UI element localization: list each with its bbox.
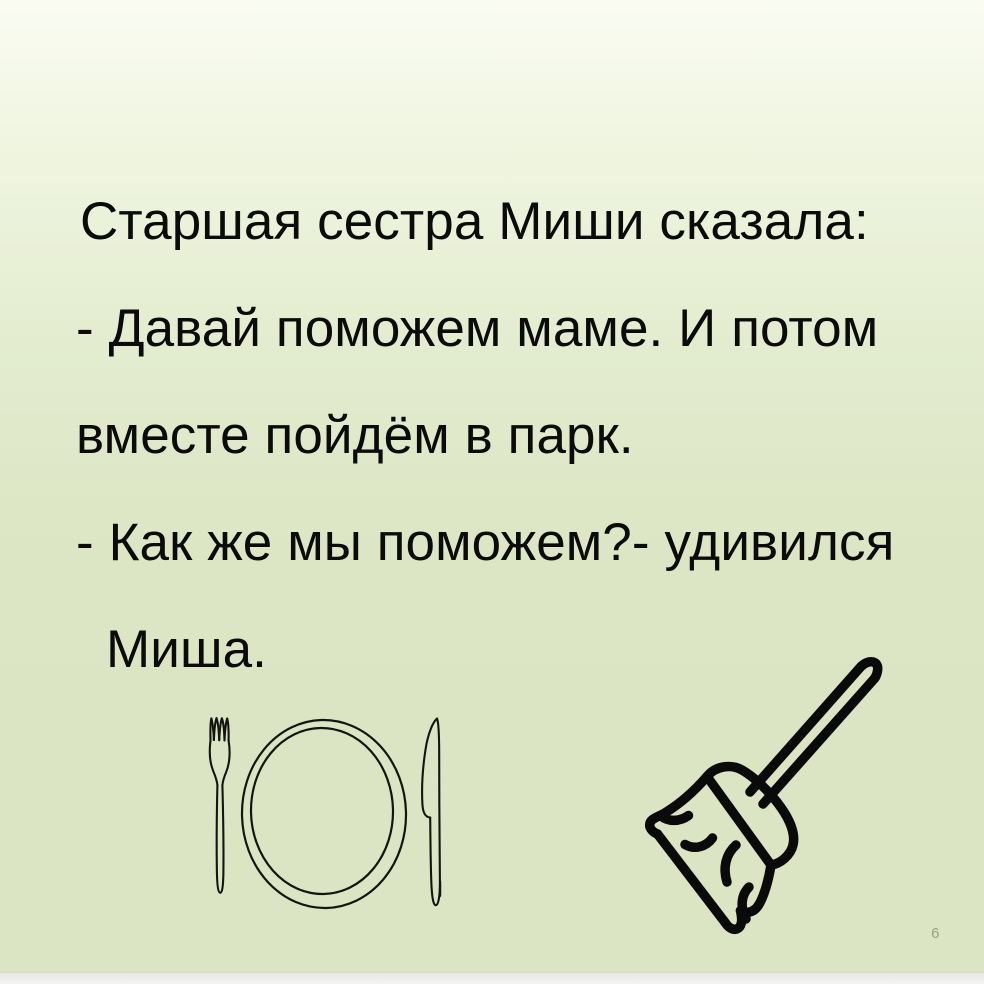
plate-icon: [240, 718, 409, 910]
broom-bristle-outer-left: [650, 777, 707, 835]
broom-bristle-strand-4: [742, 887, 749, 919]
slide-text-block: Старшая сестра Миши сказала: - Давай пом…: [72, 168, 984, 703]
knife-icon: [422, 719, 440, 906]
broom-bristle-strand-1: [661, 816, 689, 821]
broom-bristle-strand-3: [725, 845, 736, 882]
text-line-2: - Давай поможем маме. И потом: [72, 275, 984, 382]
text-line-4: - Как же мы поможем?- удивился: [72, 489, 984, 596]
broom-illustration: [630, 652, 920, 944]
place-setting-svg: [196, 694, 486, 934]
broom-svg: [630, 652, 920, 944]
broom-bristle-strand-2: [685, 838, 713, 847]
broom-handle-left-edge: [750, 667, 861, 793]
slide-canvas: Старшая сестра Миши сказала: - Давай пом…: [0, 0, 984, 984]
place-setting-illustration: [196, 694, 486, 934]
fork-icon: [210, 718, 230, 893]
text-line-1: Старшая сестра Миши сказала:: [72, 168, 984, 275]
text-line-3: вместе пойдём в парк.: [72, 382, 984, 489]
broom-handle-right-edge: [763, 679, 875, 805]
viewer-bottom-edge: [0, 972, 984, 984]
slide-number: 6: [931, 925, 940, 942]
broom-handle-cap: [861, 662, 878, 679]
